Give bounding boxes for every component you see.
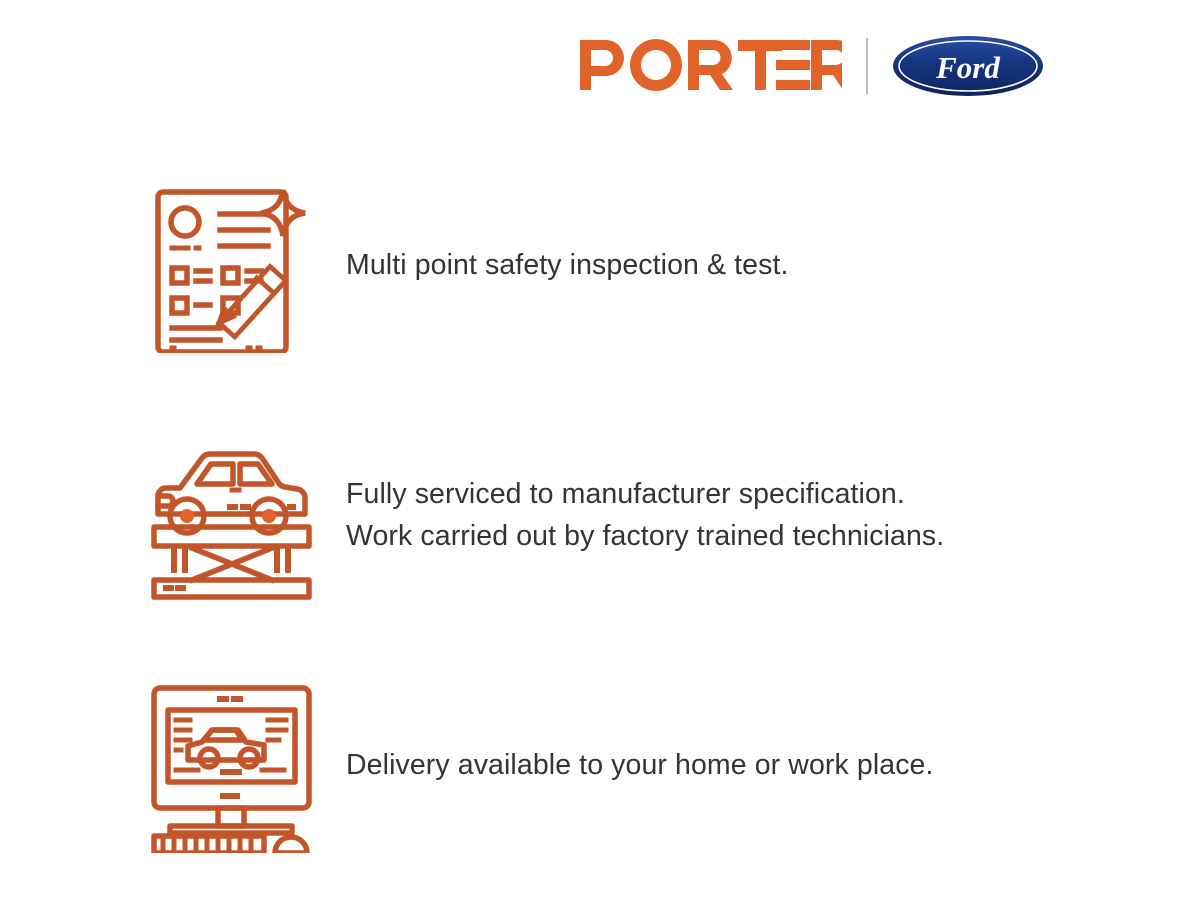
feature-line: Delivery available to your home or work … [346,744,934,786]
car-on-lift-icon [144,428,319,603]
feature-icon-delivery [144,678,324,853]
brand-divider [866,38,868,94]
ford-logo: Ford [892,35,1044,97]
feature-row: Fully serviced to manufacturer specifica… [0,390,1200,640]
clipboard-checklist-pencil-icon [144,178,319,353]
porter-wordmark-icon [580,39,842,91]
feature-icon-inspection [144,178,324,353]
brand-lockup: Ford [580,35,1044,97]
feature-row: Multi point safety inspection & test. [0,140,1200,390]
feature-text-inspection: Multi point safety inspection & test. [346,244,789,286]
feature-row: Delivery available to your home or work … [0,640,1200,890]
feature-list: Multi point safety inspection & test. [0,140,1200,890]
feature-line: Multi point safety inspection & test. [346,244,789,286]
ford-oval-icon: Ford [892,35,1044,97]
ford-badge-text: Ford [935,50,1000,85]
feature-line: Fully serviced to manufacturer specifica… [346,473,944,515]
feature-line: Work carried out by factory trained tech… [346,515,944,557]
brand-header: Ford [0,30,1200,102]
desktop-computer-car-icon [144,678,319,853]
feature-icon-service [144,428,324,603]
feature-text-service: Fully serviced to manufacturer specifica… [346,473,944,557]
porter-logo [580,41,842,91]
feature-text-delivery: Delivery available to your home or work … [346,744,934,786]
